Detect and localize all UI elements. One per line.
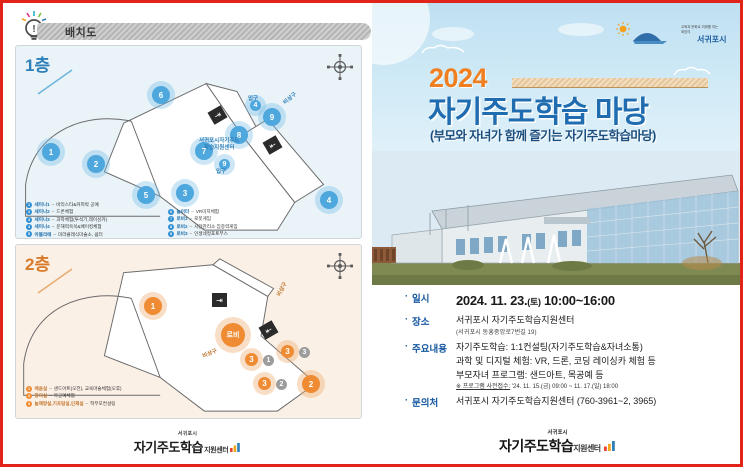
info-row-content: 주요내용 자기주도학습: 1:1컨설팅(자기주도학습&자녀소통) 과학 및 디지… [382,341,733,392]
floor-1-tag: 1층 [25,51,50,76]
floorplan-footer-logo: 서귀포시 자기주도학습 지원센터 [3,430,372,457]
chart-bars-icon [230,443,241,452]
poster-footer-logo: 서귀포시 자기주도학습지원센터 [372,428,743,456]
map-marker-1[interactable]: 1 [42,143,60,161]
svg-text:교육과 문화로 미래를 여는: 교육과 문화로 미래를 여는 [681,24,718,29]
cloud-shape-2 [558,23,604,36]
info-value-place-detail: (서귀포시 동홍중앙로7번길 19) [456,328,574,338]
floorplan-pane: ! 배치도 1층 [3,3,372,464]
content-line-3: 부모자녀 프로그램: 샌드아트, 목공예 등 [456,369,656,383]
legend-item: 3세미나3–과학체험(투석기,레이싱카) [26,216,107,223]
map-submarker-2: 2 [276,379,287,390]
svg-text:희망의: 희망의 [681,29,690,34]
poster-pane: 교육과 문화로 미래를 여는 희망의 서귀포시 2024 자기주도학습 마당 (… [372,3,743,464]
poster-logo-top: 서귀포시 [372,428,743,436]
poster-logo-sub: 지원센터 [573,444,600,453]
footer-logo-sub: 지원센터 [204,445,228,455]
map-marker-5[interactable]: 5 [137,186,155,204]
legend-item: 6놀이터–VR미지체험 [168,208,238,215]
floor-2-legend: 1배움실–샌드아트(오전), 교육마술체험(오후) 2창의실–목공예체험 3늘해… [26,385,122,407]
map-marker-2f-1[interactable]: 1 [144,297,162,315]
floor-1-legend-right: 6놀이터–VR미지체험 7로비1–로봇게임 8로비2–시간관리소 집중력게임 9… [168,208,238,238]
legend-item: 5아뜰리에–미라클래식미술소, 쉼터 [26,231,107,238]
info-value-contact: 서귀포시 자기주도학습지원센터 (760-3961~2, 3965) [456,395,656,409]
legend-item: 2창의실–목공예체험 [26,392,122,399]
legend-item: 3늘해랑실,기초탐실,인재실–학부모컨설팅 [26,400,122,407]
info-label-date: 일시 [382,291,456,311]
poster-subtitle: (부모와 자녀가 함께 즐기는 자기주도학습마당) [430,125,656,144]
footer-logo-top: 서귀포시 [3,430,372,437]
map-marker-lobby[interactable]: 로비 [221,323,245,347]
legend-item: 8로비2–시간관리소 집중력게임 [168,223,238,230]
map-marker-2f-3a[interactable]: 3 [245,353,258,366]
content-note: ※ 프로그램 사전접수: '24. 11. 15.(금) 09:00 ~ 11.… [456,383,656,392]
info-label-contact: 문의처 [382,395,456,409]
poster-logo-main: 자기주도학습지원센터 [372,436,743,456]
floorplan-title: 배치도 [65,24,97,40]
legend-item: 2세미나2–드론체험 [26,208,107,215]
info-row-contact: 문의처 서귀포시 자기주도학습지원센터 (760-3961~2, 3965) [382,395,733,409]
map-marker-2f-3b[interactable]: 3 [258,377,271,390]
poster-page: ! 배치도 1층 [0,0,743,467]
map-marker-9[interactable]: 9 [263,108,281,126]
map-label-center: 서귀포시자기주도 학습지원센터 [199,138,239,152]
legend-item: 1배움실–샌드아트(오전), 교육마술체험(오후) [26,385,122,392]
map-marker-2f-3c[interactable]: 3 [281,345,294,358]
content-line-1: 자기주도학습: 1:1컨설팅(자기주도학습&자녀소통) [456,341,656,355]
map-marker-2[interactable]: 2 [87,155,105,173]
info-value-date: 2024. 11. 23.(토) 10:00~16:00 [456,291,615,311]
hallasan-sun-icon: 교육과 문화로 미래를 여는 희망의 서귀포시 [611,21,729,47]
legend-item: 9로비3–인생네컷포토부스 [168,230,238,237]
svg-text:서귀포시: 서귀포시 [697,34,726,44]
info-row-place: 장소 서귀포시 자기주도학습지원센터 (서귀포시 동홍중앙로7번길 19) [382,314,733,338]
map-label-entrance-1: 입구 [248,94,258,102]
info-label-place: 장소 [382,314,456,338]
content-line-2: 과학 및 디지털 체험: VR, 드론, 코딩 레이싱카 체험 등 [456,355,656,369]
info-value-content: 자기주도학습: 1:1컨설팅(자기주도학습&자녀소통) 과학 및 디지털 체험:… [456,341,656,392]
floorplan-header: ! 배치도 [15,9,364,43]
info-row-date: 일시 2024. 11. 23.(토) 10:00~16:00 [382,291,733,311]
legend-item: 4세미나4–문해력쑥쑥&베이킹체험 [26,223,107,230]
legend-item: 7로비1–로봇게임 [168,215,238,222]
map-marker-2f-2[interactable]: 2 [302,375,320,393]
info-label-content: 주요내용 [382,341,456,392]
cloud-shape-1 [432,27,474,41]
map-marker-6[interactable]: 6 [152,86,170,104]
building-photo [372,151,743,287]
floor-1-panel: 1층 [15,45,362,239]
map-marker-4[interactable]: 4 [320,191,338,209]
cloud-outline-icon-1 [420,43,468,55]
svg-text:!: ! [32,24,35,35]
floor-2-tag: 2층 [25,250,50,275]
compass-rose-icon [327,253,353,279]
floor-2-panel: 2층 1 2 로비 [15,244,362,419]
floor-1-legend-left: 1세미나1–바리스타&커피박 공예 2세미나2–드론체험 3세미나3–과학체험(… [26,201,107,238]
door-icon-3: ⇥ [212,293,227,307]
footer-logo-main: 자기주도학습 지원센터 [134,437,242,456]
map-label-entrance-2: 입구 [216,167,226,175]
poster-info-block: 일시 2024. 11. 23.(토) 10:00~16:00 장소 서귀포시 … [372,285,743,433]
legend-item: 1세미나1–바리스타&커피박 공예 [26,201,107,208]
chart-bars-icon [604,441,616,451]
compass-rose-icon [327,54,353,80]
info-value-place: 서귀포시 자기주도학습지원센터 (서귀포시 동홍중앙로7번길 19) [456,314,574,338]
map-submarker-3: 3 [299,347,310,358]
map-marker-3[interactable]: 3 [176,184,194,202]
map-submarker-1: 1 [263,355,274,366]
cloud-outline-icon-2 [672,65,712,77]
